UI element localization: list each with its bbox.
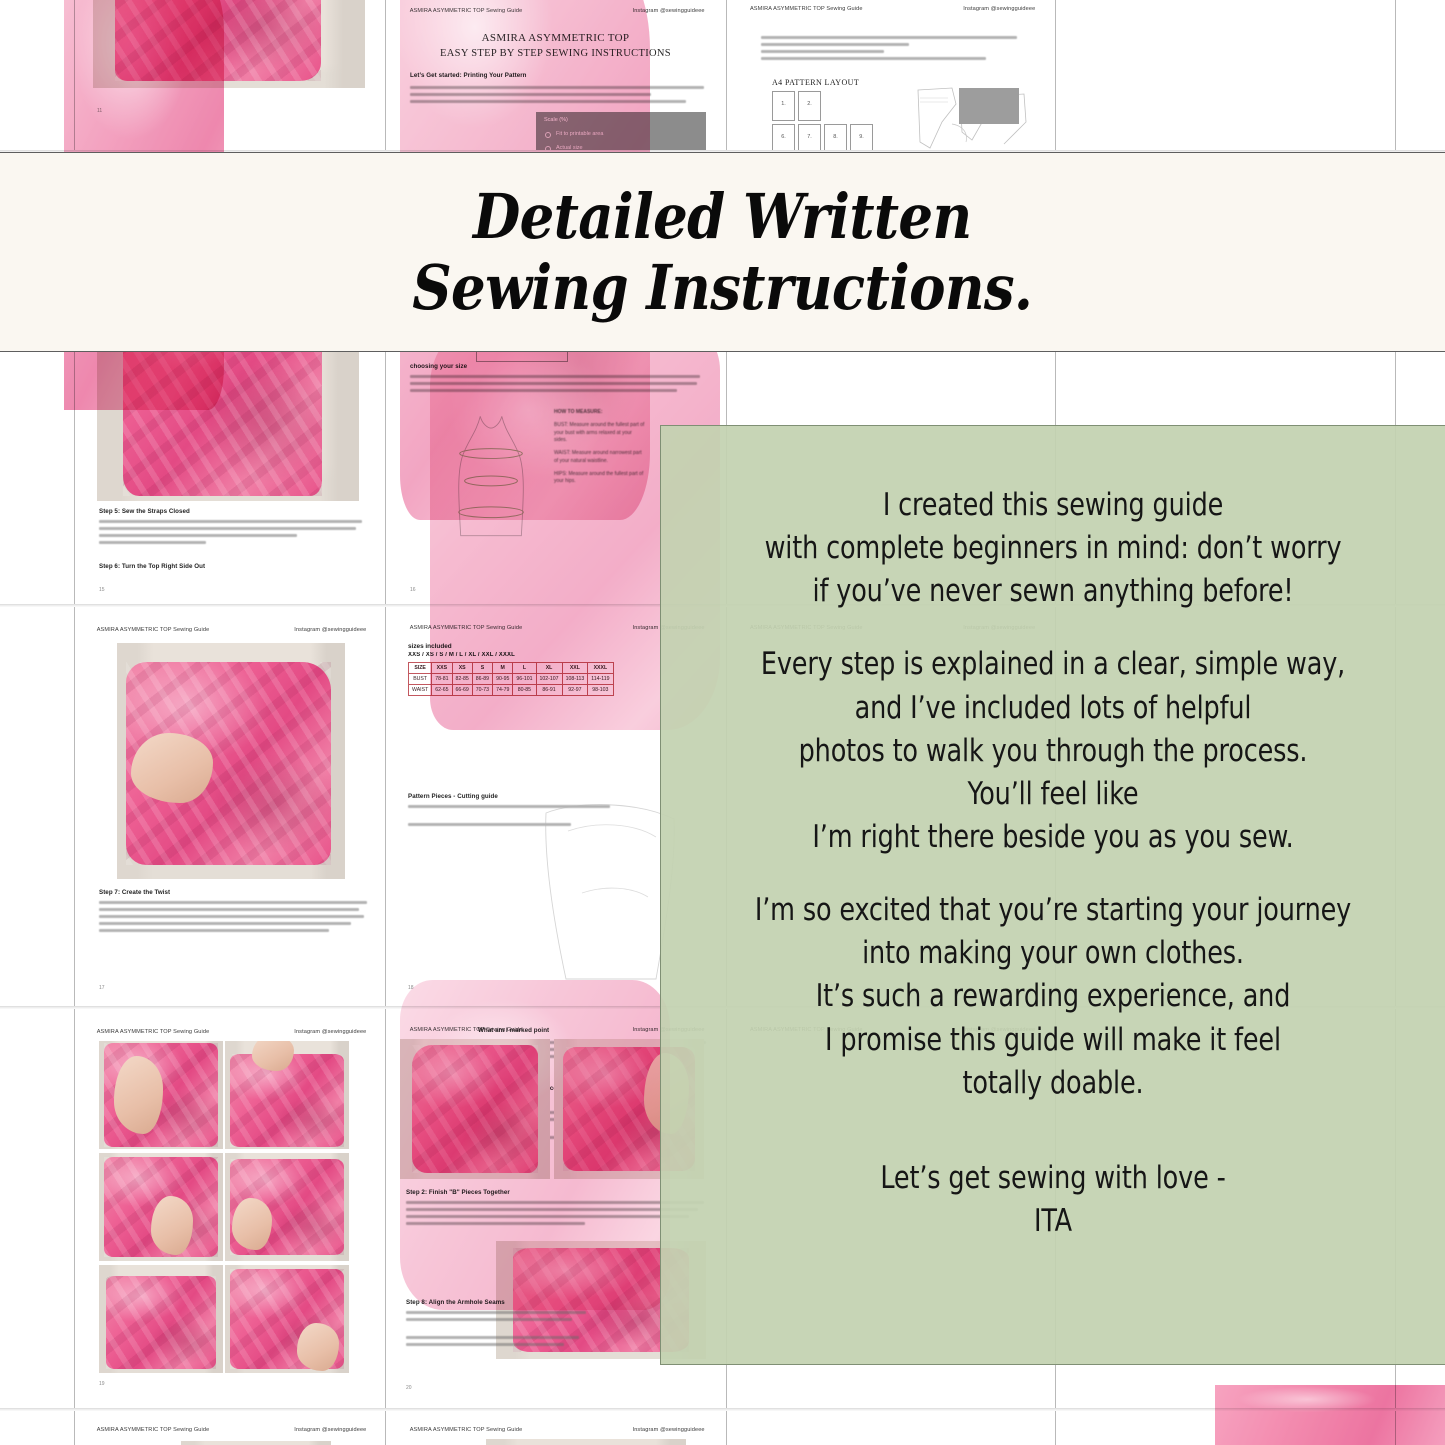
garment-photo [99,1153,223,1261]
garment-overlay-photo-center-bottom [400,980,670,1310]
page-title-line-2: Sewing Instructions. [413,256,1033,319]
header-right: Instagram @sewingguideee [633,1427,705,1433]
message-paragraph-2: Every step is explained in a clear, simp… [724,643,1383,859]
pattern-cell: 6. [772,124,795,152]
pattern-layout-notes [761,36,1017,64]
header-left: ASMIRA ASYMMETRIC TOP Sewing Guide [410,1427,523,1433]
step-heading: Step 5: Sew the Straps Closed [99,508,190,515]
step-body [406,1311,586,1350]
page-title-line-1: Detailed Written [473,185,972,248]
pattern-layout-grid-row2: 6. 7. 8. 9. [772,124,906,152]
page-number: 17 [99,985,105,991]
page-number: 15 [99,587,105,593]
header-left: ASMIRA ASYMMETRIC TOP Sewing Guide [97,1029,210,1035]
hand [151,1196,193,1254]
hand [232,1198,272,1250]
cell: BUST [409,674,432,685]
pattern-cell: 7. [798,124,821,152]
garment-overlay-photo-bottom-right [1215,1385,1445,1445]
garment-photo [181,1441,331,1445]
pattern-layout-grid: 1. 2. [772,91,876,121]
pattern-pieces-title: Pattern Pieces - Cutting guide [408,793,498,800]
pattern-cell: 8. [824,124,847,152]
page-running-header: ASMIRA ASYMMETRIC TOP Sewing Guide Insta… [410,1427,705,1433]
garment-photo [486,1439,686,1445]
title-band: Detailed Written Sewing Instructions. [0,152,1445,352]
message-paragraph-1: I created this sewing guide with complet… [724,484,1383,613]
header-left: ASMIRA ASYMMETRIC TOP Sewing Guide [97,627,210,633]
garment-photo [225,1265,349,1373]
page-r3c1: ASMIRA ASYMMETRIC TOP Sewing Guide Insta… [75,607,385,1007]
a4-pattern-layout: A4 PATTERN LAYOUT 1. 2. 6. 7. 8. 9. [772,78,906,152]
page-r5c1: ASMIRA ASYMMETRIC TOP Sewing Guide Insta… [75,1411,385,1445]
pattern-cell: 2. [798,91,821,121]
hand [131,733,213,804]
hand [297,1323,339,1371]
collage-canvas: 11 ASMIRA ASYMMETRIC TOP Sewing Guide In… [0,0,1445,1445]
page-running-header: ASMIRA ASYMMETRIC TOP Sewing Guide Insta… [750,6,1035,12]
page-r5c2: ASMIRA ASYMMETRIC TOP Sewing Guide Insta… [386,1411,725,1445]
pattern-layout-title: A4 PATTERN LAYOUT [772,78,906,87]
step-body [99,901,367,936]
header-right: Instagram @sewingguideee [294,627,366,633]
page-r4c1: ASMIRA ASYMMETRIC TOP Sewing Guide Insta… [75,1009,385,1409]
pattern-gray-block [959,88,1019,124]
step-body [99,520,367,548]
hand [114,1056,164,1134]
green-message-panel: I created this sewing guide with complet… [660,425,1445,1365]
page-r1c4 [1056,0,1395,152]
step-heading: Step 6: Turn the Top Right Side Out [99,563,205,570]
header-right: Instagram @sewingguideee [963,6,1035,12]
cell: WAIST [409,685,432,696]
garment-photo [225,1153,349,1261]
page-r1c3: ASMIRA ASYMMETRIC TOP Sewing Guide Insta… [727,0,1055,152]
page-running-header: ASMIRA ASYMMETRIC TOP Sewing Guide Insta… [97,1029,367,1035]
message-paragraph-3: I’m so excited that you’re starting your… [724,889,1383,1105]
page-r5c3 [727,1411,1055,1445]
page-number: 19 [99,1381,105,1387]
page-number: 20 [406,1385,412,1391]
pattern-cell: 1. [772,91,795,121]
garment-photo [99,1265,223,1373]
pattern-cell: 9. [850,124,873,152]
page-running-header: ASMIRA ASYMMETRIC TOP Sewing Guide Insta… [97,627,367,633]
header-right: Instagram @sewingguideee [294,1029,366,1035]
step-heading: Step 7: Create the Twist [99,889,170,896]
message-signature: Let’s get sewing with love - ITA [724,1157,1383,1243]
header-left: ASMIRA ASYMMETRIC TOP Sewing Guide [750,6,863,12]
col-header: SIZE [409,663,432,674]
page-number: 16 [410,587,416,593]
page-running-header: ASMIRA ASYMMETRIC TOP Sewing Guide Insta… [97,1427,367,1433]
header-left: ASMIRA ASYMMETRIC TOP Sewing Guide [97,1427,210,1433]
garment-photo [99,1041,223,1149]
garment-photo [117,643,345,879]
garment-photo [225,1041,349,1149]
header-right: Instagram @sewingguideee [294,1427,366,1433]
